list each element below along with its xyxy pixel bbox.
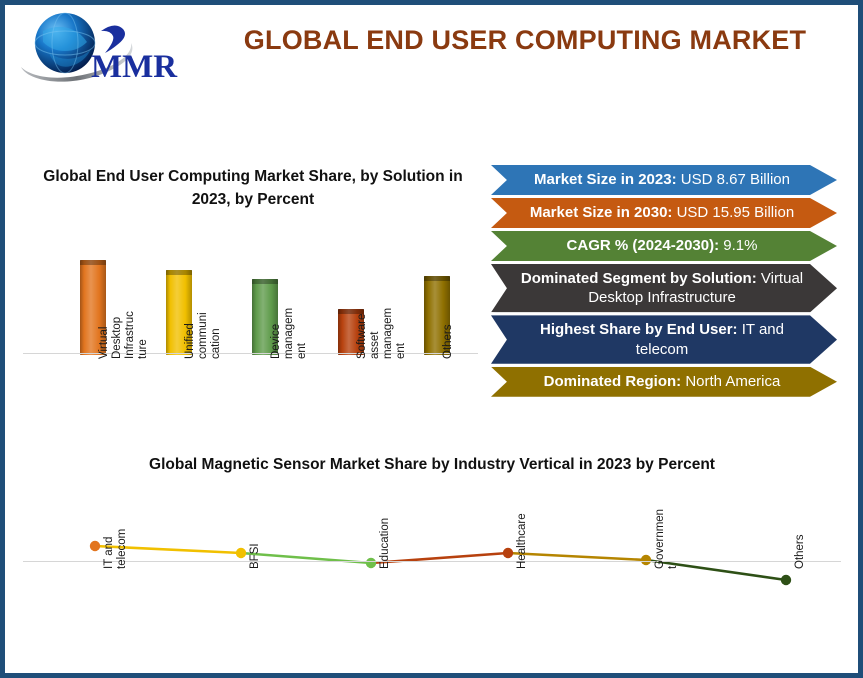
- ribbon-market-size-2030: Market Size in 2030: USD 15.95 Billion: [491, 198, 837, 228]
- line-chart-svg: [23, 499, 841, 617]
- page-title: GLOBAL END USER COMPUTING MARKET: [205, 25, 845, 56]
- ribbon-cagr: CAGR % (2024-2030): 9.1%: [491, 231, 837, 261]
- line-category-label: Education: [379, 451, 392, 569]
- logo-text: MMR: [91, 49, 178, 85]
- bar-chart: Global End User Computing Market Share, …: [23, 155, 485, 445]
- line-marker-1: [236, 548, 246, 558]
- ribbon-label: Dominated Region:: [544, 373, 682, 390]
- bar-category-label: Device managem ent: [270, 241, 309, 359]
- line-marker-2: [366, 558, 376, 568]
- ribbon-highest-share-end-user: Highest Share by End User: IT and teleco…: [491, 315, 837, 363]
- ribbon-value: USD 15.95 Billion: [677, 204, 795, 221]
- bar-category-label: Unified communi cation: [184, 241, 223, 359]
- bar-chart-title: Global End User Computing Market Share, …: [33, 165, 473, 212]
- line-chart: Global Magnetic Sensor Market Share by I…: [23, 449, 841, 659]
- ribbon-dominated-segment: Dominated Segment by Solution: Virtual D…: [491, 264, 837, 312]
- line-chart-axis: [23, 561, 841, 562]
- line-category-label: Healthcare: [516, 451, 529, 569]
- line-category-label: Others: [794, 451, 807, 569]
- ribbon-value: USD 8.67 Billion: [681, 171, 790, 188]
- header: MMR GLOBAL END USER COMPUTING MARKET: [5, 5, 858, 97]
- ribbon-dominated-region: Dominated Region: North America: [491, 367, 837, 397]
- line-category-label: IT and telecom: [103, 451, 129, 569]
- ribbon-value: North America: [685, 373, 780, 390]
- ribbon-value: 9.1%: [723, 237, 757, 254]
- line-marker-4: [641, 555, 651, 565]
- ribbon-label: Highest Share by End User:: [540, 321, 738, 338]
- highlight-ribbon-list: Market Size in 2023: USD 8.67 Billion Ma…: [491, 165, 843, 400]
- line-category-label: BFSI: [249, 451, 262, 569]
- mmr-logo: MMR: [13, 9, 198, 93]
- bar-category-label: Software asset managem ent: [356, 241, 408, 359]
- bar-category-label: Others: [442, 241, 455, 359]
- infographic-page: MMR GLOBAL END USER COMPUTING MARKET Glo…: [0, 0, 863, 678]
- bar-category-label: Virtual Desktop Infrastruc ture: [98, 241, 150, 359]
- line-marker-3: [503, 548, 513, 558]
- ribbon-label: Market Size in 2030:: [530, 204, 673, 221]
- ribbon-label: Dominated Segment by Solution:: [521, 270, 757, 287]
- ribbon-label: Market Size in 2023:: [534, 171, 677, 188]
- line-category-label: Governmen t: [654, 451, 680, 569]
- infographic-canvas: MMR GLOBAL END USER COMPUTING MARKET Glo…: [5, 5, 858, 673]
- ribbon-market-size-2023: Market Size in 2023: USD 8.67 Billion: [491, 165, 837, 195]
- line-marker-0: [90, 541, 100, 551]
- line-marker-5: [781, 575, 791, 585]
- ribbon-label: CAGR % (2024-2030):: [567, 237, 720, 254]
- bar-chart-axis: [23, 353, 478, 354]
- line-chart-title: Global Magnetic Sensor Market Share by I…: [23, 453, 841, 476]
- line-chart-plot: [23, 499, 841, 617]
